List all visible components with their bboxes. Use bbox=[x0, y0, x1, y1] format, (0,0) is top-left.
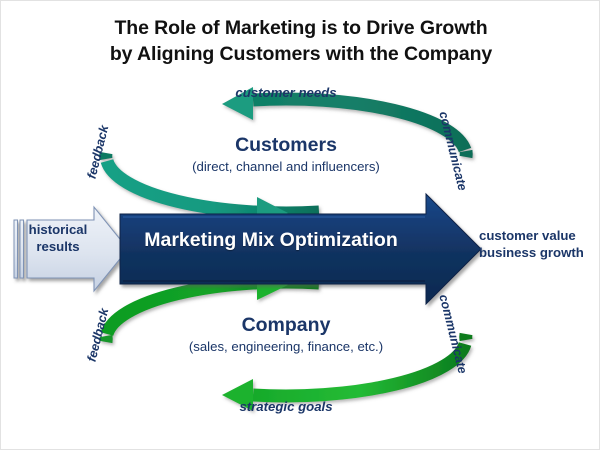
diagram-canvas: The Role of Marketing is to Drive Growth… bbox=[0, 0, 600, 450]
marketing-mix-label: Marketing Mix Optimization bbox=[121, 229, 421, 252]
output-line-1: customer value bbox=[479, 227, 600, 244]
output-outcomes-label: customer value business growth bbox=[479, 227, 600, 261]
company-title: Company bbox=[156, 314, 416, 338]
company-subtitle: (sales, engineering, finance, etc.) bbox=[156, 339, 416, 355]
strategic-goals-label: strategic goals bbox=[181, 399, 391, 414]
historical-results-label: historical results bbox=[23, 221, 93, 255]
company-block: Company (sales, engineering, finance, et… bbox=[156, 314, 416, 355]
customer-needs-label: customer needs bbox=[181, 85, 391, 100]
customers-title: Customers bbox=[156, 134, 416, 158]
historical-results-line-2: results bbox=[23, 238, 93, 255]
customers-block: Customers (direct, channel and influence… bbox=[156, 134, 416, 175]
historical-results-line-1: historical bbox=[23, 221, 93, 238]
customers-subtitle: (direct, channel and influencers) bbox=[156, 159, 416, 175]
output-line-2: business growth bbox=[479, 244, 600, 261]
